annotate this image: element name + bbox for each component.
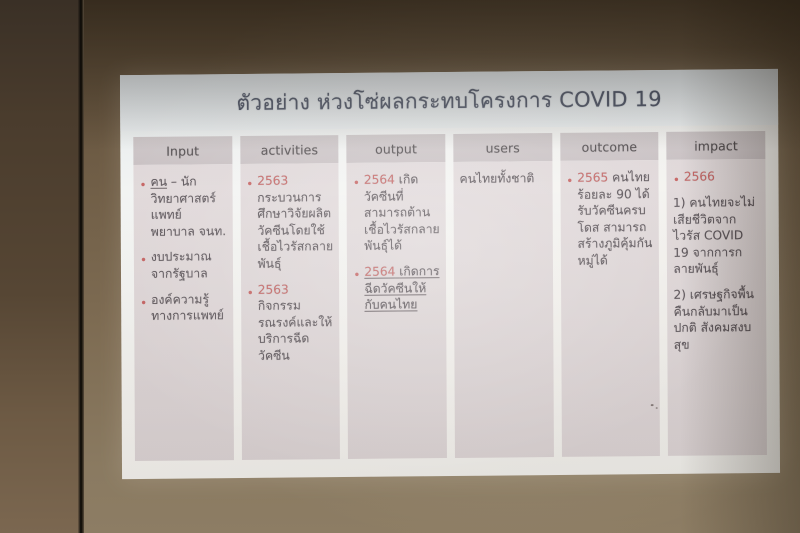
- list-item: คน – นักวิทยาศาสตร์ แพทย์ พยาบาล จนท.: [139, 173, 226, 240]
- year-label: 2564: [364, 264, 395, 278]
- year-label: 2565: [577, 170, 608, 184]
- list-item: 2565 คนไทยร้อยละ 90 ได้รับวัคซีนครบโดส ส…: [566, 169, 653, 269]
- list-item-text: 2564 เกิดการฉีดวัคซีนให้กับคนไทย: [364, 263, 440, 314]
- underlined-term: คน: [150, 175, 167, 189]
- list-item-text: 2565 คนไทยร้อยละ 90 ได้รับวัคซีนครบโดส ส…: [577, 169, 653, 269]
- list-item-text: คนไทยทั้งชาติ: [459, 170, 546, 187]
- list-item-text-body: องค์ความรู้ทางการแพทย์: [151, 292, 224, 323]
- list-item-text: 2) เศรษฐกิจพื้นคืนกลับมาเป็นปกติ สังคมสง…: [673, 286, 760, 353]
- column-header-outcome: outcome: [560, 132, 659, 161]
- chain-column: activities2563 กระบวนการศึกษาวิจัยผลิตวั…: [240, 135, 340, 460]
- projection-speck: [656, 407, 658, 409]
- list-item-text-body: กระบวนการศึกษาวิจัยผลิตวัคซีนโดยใช้เชื้อ…: [257, 190, 333, 271]
- column-header-users: users: [453, 133, 552, 162]
- column-body: 2564 เกิดวัคซีนที่สามารถต้านเชื้อไวรัสกล…: [347, 162, 447, 459]
- year-label: 2563: [257, 174, 288, 188]
- projected-slide: ตัวอย่าง ห่วงโซ่ผลกระทบโครงการ COVID 19 …: [120, 69, 780, 479]
- column-header-input: Input: [133, 136, 232, 165]
- bullet-icon: [140, 179, 149, 191]
- list-item-text: คน – นักวิทยาศาสตร์ แพทย์ พยาบาล จนท.: [150, 173, 226, 240]
- chain-column: impact25661) คนไทยจะไม่เสียชีวิตจากไวรัส…: [667, 131, 767, 456]
- bullet-icon: [247, 286, 256, 298]
- list-item-text-body: 1) คนไทยจะไม่เสียชีวิตจากไวรัส COVID 19 …: [673, 195, 755, 276]
- column-body: 2565 คนไทยร้อยละ 90 ได้รับวัคซีนครบโดส ส…: [560, 160, 660, 457]
- list-item-text-body: คนไทยร้อยละ 90 ได้รับวัคซีนครบโดส สามารถ…: [577, 170, 652, 268]
- list-item-text: 2563 กระบวนการศึกษาวิจัยผลิตวัคซีนโดยใช้…: [257, 172, 333, 272]
- list-item: คนไทยทั้งชาติ: [459, 170, 546, 187]
- chain-column: output2564 เกิดวัคซีนที่สามารถต้านเชื้อไ…: [347, 134, 447, 459]
- slide-title: ตัวอย่าง ห่วงโซ่ผลกระทบโครงการ COVID 19: [120, 82, 778, 121]
- column-body: 25661) คนไทยจะไม่เสียชีวิตจากไวรัส COVID…: [667, 159, 767, 456]
- list-item: งบประมาณจากรัฐบาล: [140, 249, 227, 283]
- column-body: 2563 กระบวนการศึกษาวิจัยผลิตวัคซีนโดยใช้…: [240, 163, 340, 460]
- column-header-activities: activities: [240, 135, 339, 164]
- list-item-text-body: 2) เศรษฐกิจพื้นคืนกลับมาเป็นปกติ สังคมสง…: [673, 287, 754, 352]
- list-item-text: 1) คนไทยจะไม่เสียชีวิตจากไวรัส COVID 19 …: [673, 194, 760, 278]
- chain-column: outcome2565 คนไทยร้อยละ 90 ได้รับวัคซีนค…: [560, 132, 660, 457]
- list-item-text: 2563 กิจกรรมรณรงค์และให้บริการฉีดวัคซีน: [258, 281, 334, 365]
- column-header-output: output: [347, 134, 446, 163]
- year-label: 2564: [364, 173, 395, 187]
- list-item-text: งบประมาณจากรัฐบาล: [151, 249, 227, 283]
- list-item-text-body: งบประมาณจากรัฐบาล: [151, 250, 212, 281]
- projection-room-scene: ตัวอย่าง ห่วงโซ่ผลกระทบโครงการ COVID 19 …: [0, 0, 800, 533]
- year-label: 2566: [684, 169, 715, 183]
- bullet-icon: [140, 254, 149, 266]
- bullet-icon: [353, 177, 362, 189]
- list-item-text: 2566: [684, 168, 760, 185]
- list-item-text: องค์ความรู้ทางการแพทย์: [151, 291, 227, 325]
- bullet-icon: [140, 296, 149, 308]
- list-item-text-body: กิจกรรมรณรงค์และให้บริการฉีดวัคซีน: [258, 299, 333, 363]
- bullet-icon: [353, 269, 362, 281]
- bullet-icon: [566, 175, 575, 187]
- column-header-impact: impact: [667, 131, 766, 160]
- list-item: องค์ความรู้ทางการแพทย์: [140, 291, 227, 325]
- chain-column: Inputคน – นักวิทยาศาสตร์ แพทย์ พยาบาล จน…: [133, 136, 233, 461]
- bullet-icon: [673, 174, 682, 186]
- wall-panel-left: [0, 0, 82, 533]
- list-item: 2564 เกิดการฉีดวัคซีนให้กับคนไทย: [353, 263, 440, 314]
- list-item: 2) เศรษฐกิจพื้นคืนกลับมาเป็นปกติ สังคมสง…: [673, 286, 760, 353]
- list-item-text: 2564 เกิดวัคซีนที่สามารถต้านเชื้อไวรัสกล…: [364, 171, 440, 255]
- year-label: 2563: [258, 282, 289, 296]
- column-body: คน – นักวิทยาศาสตร์ แพทย์ พยาบาล จนท.งบป…: [133, 164, 233, 461]
- list-item: 1) คนไทยจะไม่เสียชีวิตจากไวรัส COVID 19 …: [673, 194, 760, 278]
- list-item: 2566: [673, 168, 760, 186]
- column-body: คนไทยทั้งชาติ: [453, 161, 553, 458]
- chain-column: usersคนไทยทั้งชาติ: [453, 133, 553, 458]
- list-item: 2563 กิจกรรมรณรงค์และให้บริการฉีดวัคซีน: [247, 281, 334, 365]
- projection-speck: [651, 404, 654, 406]
- bullet-icon: [246, 178, 255, 190]
- impact-chain-columns: Inputคน – นักวิทยาศาสตร์ แพทย์ พยาบาล จน…: [133, 131, 767, 461]
- list-item: 2564 เกิดวัคซีนที่สามารถต้านเชื้อไวรัสกล…: [353, 171, 440, 255]
- list-item: 2563 กระบวนการศึกษาวิจัยผลิตวัคซีนโดยใช้…: [246, 172, 333, 272]
- slide-canvas: ตัวอย่าง ห่วงโซ่ผลกระทบโครงการ COVID 19 …: [120, 69, 780, 479]
- list-item-text-body: คนไทยทั้งชาติ: [459, 171, 534, 186]
